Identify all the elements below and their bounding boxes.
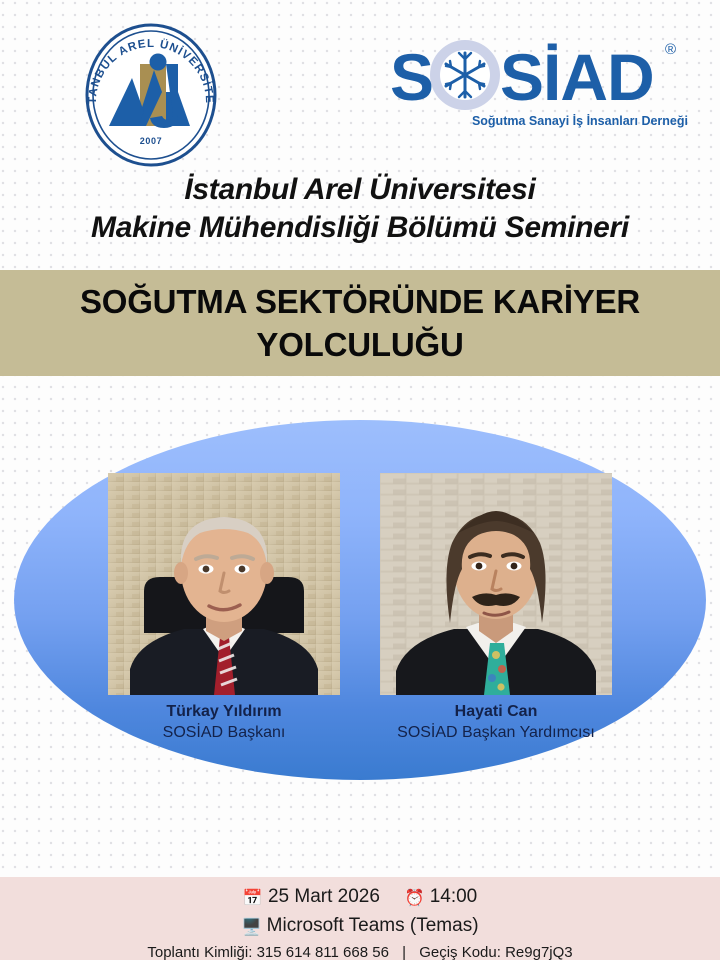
svg-text:Soğutma Sanayi İş İnsanları De: Soğutma Sanayi İş İnsanları Derneği (472, 113, 688, 128)
meeting-credentials-line: Toplantı Kimliği: 315 614 811 668 56 | G… (0, 941, 720, 960)
speakers-ellipse: Türkay Yıldırım SOSİAD Başkanı (14, 420, 706, 780)
passcode-label: Geçiş Kodu: (419, 944, 501, 960)
event-time: 14:00 (430, 886, 478, 907)
platform-line: 🖥️ Microsoft Teams (Temas) (0, 912, 720, 941)
desktop-computer-icon: 🖥️ (241, 919, 261, 936)
event-details-footer: 📅 25 Mart 2026 ⏰ 14:00 🖥️ Microsoft Team… (0, 877, 720, 960)
speaker-name: Hayati Can (380, 702, 612, 722)
calendar-icon: 📅 (243, 890, 263, 907)
meeting-id-label: Toplantı Kimliği: (147, 944, 252, 960)
header-line-university: İstanbul Arel Üniversitesi (0, 171, 720, 209)
header-line-department: Makine Mühendisliği Bölümü Semineri (0, 209, 720, 247)
sosiad-logo-icon: S SİAD ® Soğutma Sanayi İş İnsanları Der… (382, 28, 692, 140)
alarm-clock-icon: ⏰ (404, 890, 424, 907)
speaker-photo-turkay-yildirim (108, 473, 340, 695)
seminar-title-line2: YOLCULUĞU (30, 323, 690, 366)
seminar-title-line1: SOĞUTMA SEKTÖRÜNDE KARİYER (30, 280, 690, 323)
svg-text:2007: 2007 (140, 136, 162, 146)
speaker-name: Türkay Yıldırım (108, 702, 340, 722)
svg-text:®: ® (665, 41, 676, 58)
credentials-separator: | (393, 941, 415, 960)
meeting-id-value[interactable]: 315 614 811 668 56 (257, 944, 389, 960)
logo-row: İSTANBUL AREL ÜNİVERSİTESİ 2007 (0, 0, 720, 172)
seminar-title-band: SOĞUTMA SEKTÖRÜNDE KARİYER YOLCULUĞU (0, 270, 720, 376)
speakers-list: Türkay Yıldırım SOSİAD Başkanı (14, 420, 706, 780)
university-seal-icon: İSTANBUL AREL ÜNİVERSİTESİ 2007 (78, 22, 224, 168)
date-time-line: 📅 25 Mart 2026 ⏰ 14:00 (0, 883, 720, 912)
seminar-poster: İSTANBUL AREL ÜNİVERSİTESİ 2007 (0, 0, 720, 960)
speaker-card: Hayati Can SOSİAD Başkan Yardımcısı (380, 473, 612, 743)
seminar-header: İstanbul Arel Üniversitesi Makine Mühend… (0, 171, 720, 247)
event-date: 25 Mart 2026 (268, 886, 380, 907)
passcode-value[interactable]: Re9g7jQ3 (505, 944, 573, 960)
speaker-card: Türkay Yıldırım SOSİAD Başkanı (108, 473, 340, 743)
speaker-photo-hayati-can (380, 473, 612, 695)
svg-text:SİAD: SİAD (500, 40, 654, 114)
speaker-role: SOSİAD Başkanı (108, 722, 340, 743)
speaker-role: SOSİAD Başkan Yardımcısı (380, 722, 612, 743)
event-platform: Microsoft Teams (Temas) (267, 915, 479, 936)
svg-text:S: S (390, 40, 434, 114)
